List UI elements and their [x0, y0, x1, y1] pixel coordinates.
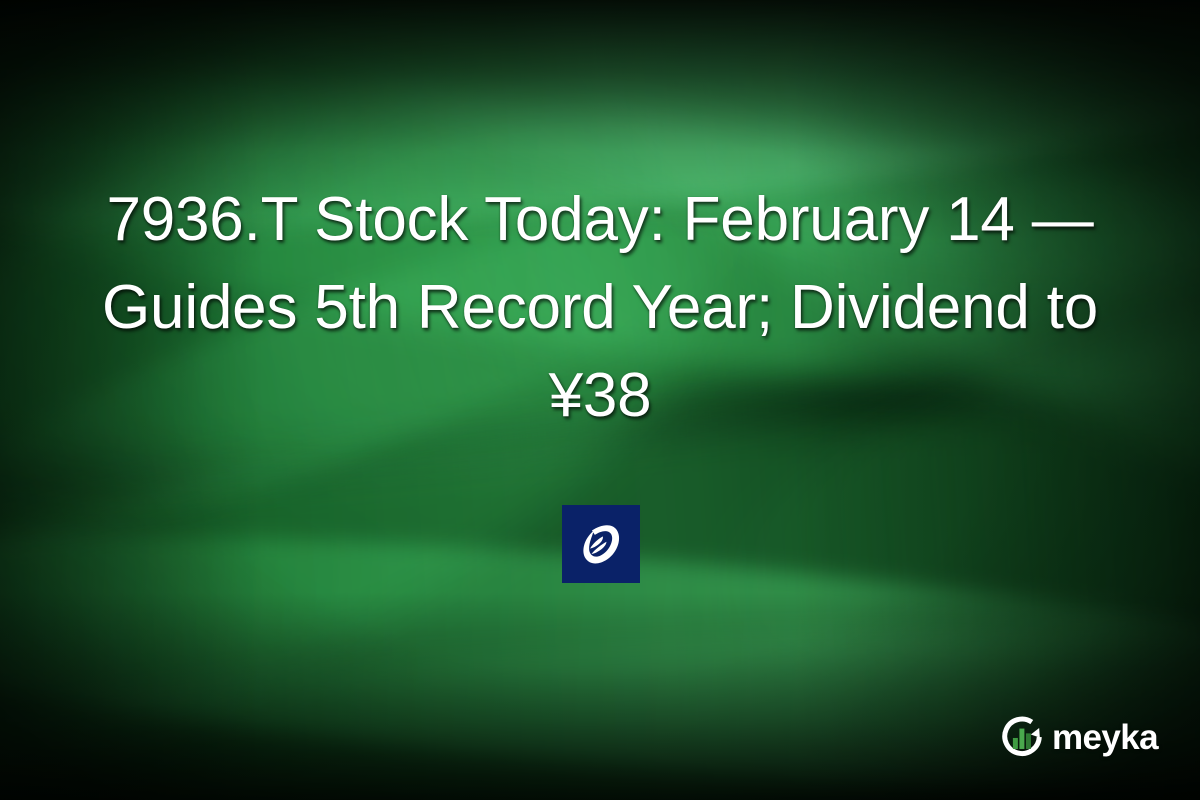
card-content: 7936.T Stock Today: February 14 — Guides…	[0, 0, 1200, 800]
page-title: 7936.T Stock Today: February 14 — Guides…	[50, 176, 1150, 440]
share-card: 7936.T Stock Today: February 14 — Guides…	[0, 0, 1200, 800]
